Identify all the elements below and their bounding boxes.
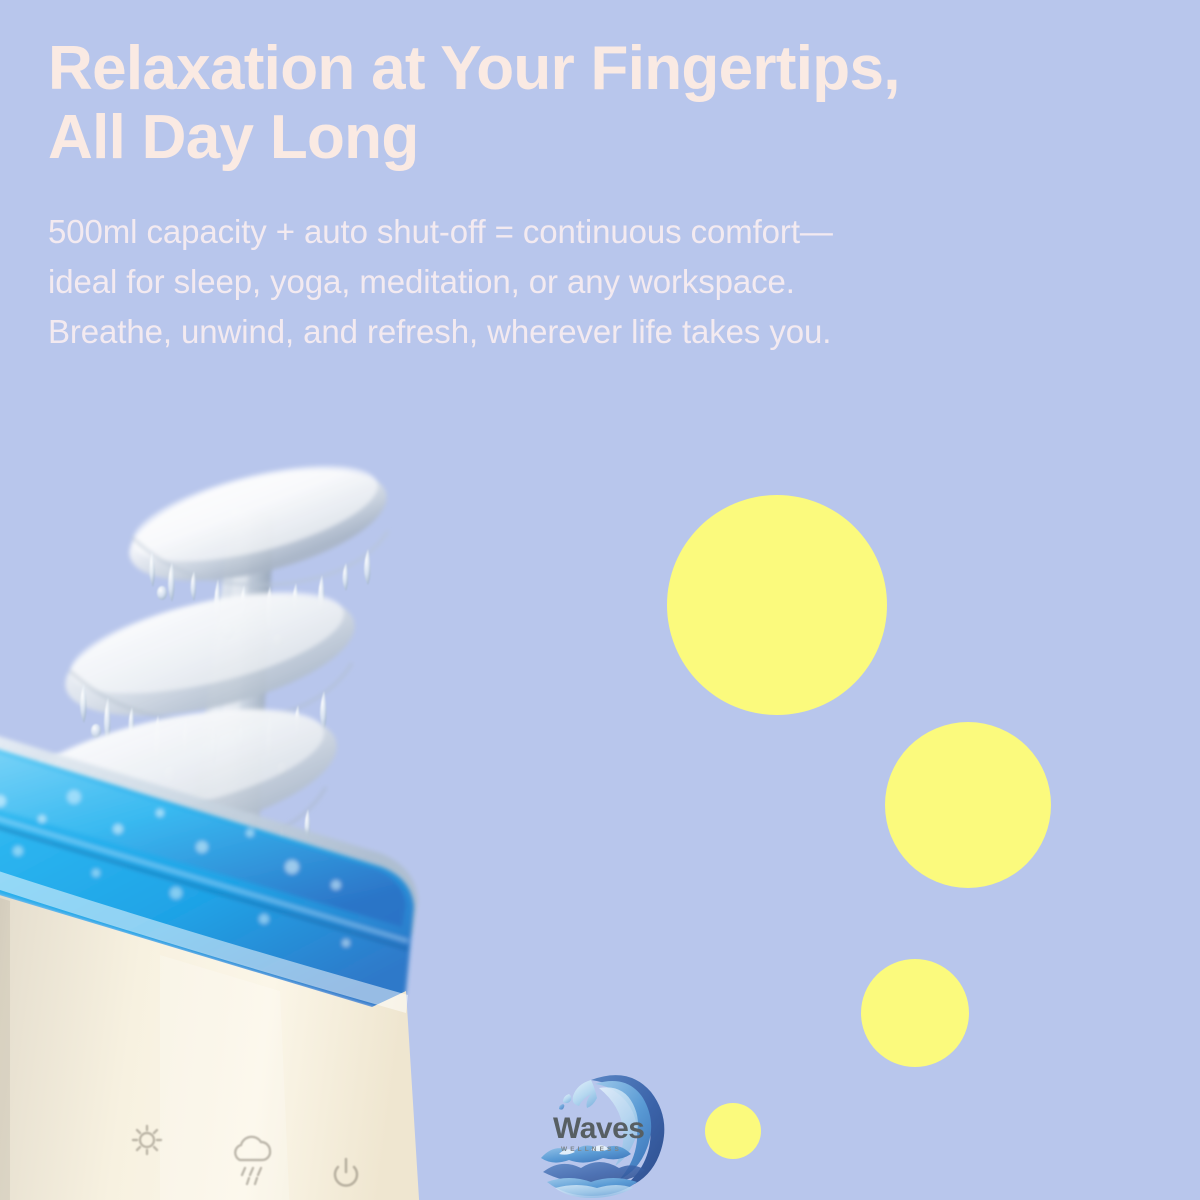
poster-canvas: Relaxation at Your Fingertips, All Day L… xyxy=(0,0,1200,1200)
logo-brand-text: Waves xyxy=(553,1112,644,1145)
yellow-dot-large xyxy=(667,495,887,715)
product-photo-humidifier xyxy=(0,415,560,1200)
page-title: Relaxation at Your Fingertips, All Day L… xyxy=(48,34,1088,173)
yellow-dot-medium xyxy=(885,722,1051,888)
yellow-dot-small xyxy=(861,959,969,1067)
logo-tagline-text: WELLNESS xyxy=(561,1146,622,1153)
waves-wellness-logo: Waves WELLNESS xyxy=(533,1062,683,1200)
subcopy-paragraph: 500ml capacity + auto shut-off = continu… xyxy=(48,207,1088,357)
copy-block: Relaxation at Your Fingertips, All Day L… xyxy=(48,34,1088,357)
yellow-dot-tiny xyxy=(705,1103,761,1159)
